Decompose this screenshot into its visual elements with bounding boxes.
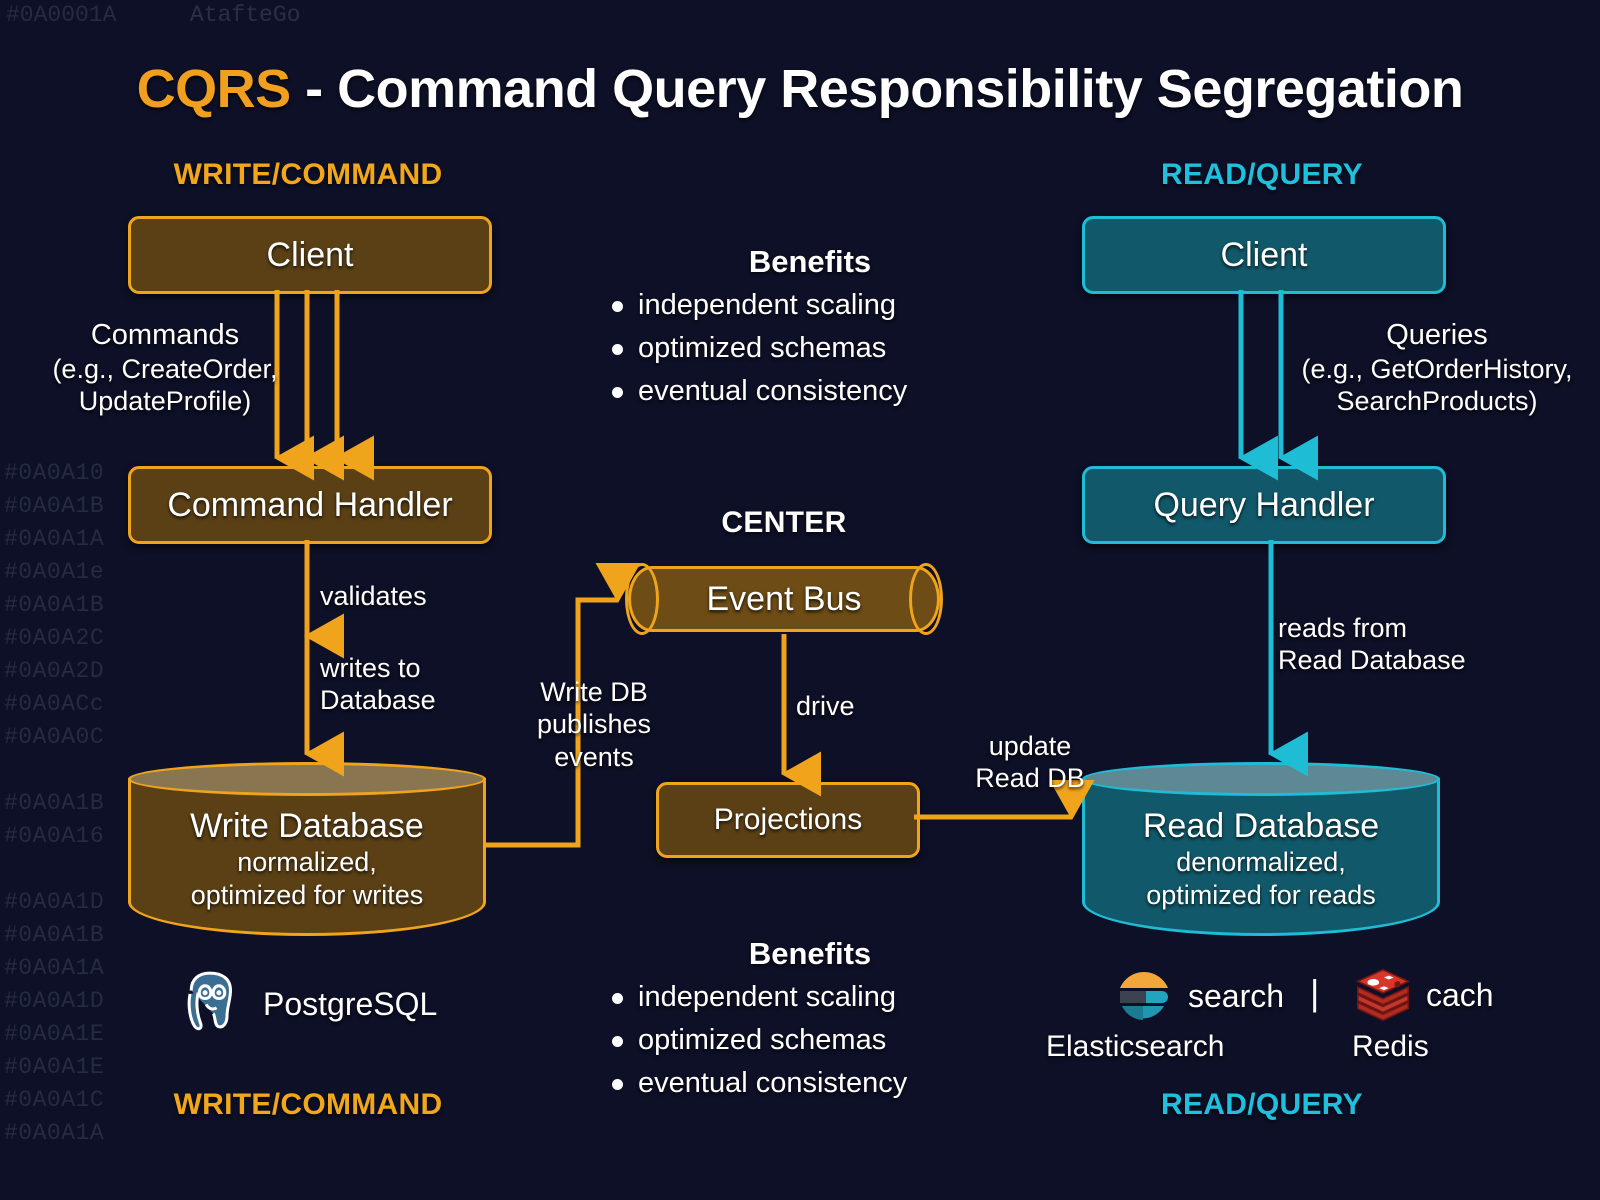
read-db-top [1082, 762, 1440, 796]
elasticsearch-icon [1112, 962, 1176, 1031]
edge-label-queries-examples: Queries (e.g., GetOrderHistory, SearchPr… [1272, 318, 1600, 418]
watermark-hex-line: #0A0A1D [4, 990, 204, 1023]
watermark-hex-line: #0A0A2C [4, 627, 204, 660]
read-db-label: Read Database denormalized, optimized fo… [1082, 806, 1440, 911]
benefits-top: Benefits independent scalingoptimized sc… [600, 244, 1020, 413]
query-handler-node[interactable]: Query Handler [1082, 466, 1446, 544]
watermark-hex-line: #0A0A0C [4, 726, 204, 759]
benefits-top-heading: Benefits [600, 244, 1020, 280]
benefit-item: optimized schemas [638, 327, 1020, 370]
benefits-bottom: Benefits independent scalingoptimized sc… [600, 936, 1020, 1105]
edge-commands-line2: (e.g., CreateOrder, [40, 353, 290, 385]
watermark-hex-line: #0A0A1A [4, 1122, 204, 1155]
title-accent: CQRS [137, 59, 291, 119]
read-database-node[interactable]: Read Database denormalized, optimized fo… [1082, 762, 1440, 936]
watermark-hex-line: #0A0A1B [4, 594, 204, 627]
edge-publishes-line1: Write DB [504, 676, 684, 708]
benefit-item: independent scaling [638, 284, 1020, 327]
edge-update-line1: update [930, 730, 1130, 762]
elasticsearch-name: Elasticsearch [1046, 1030, 1224, 1064]
edge-label-writes-to: writes to Database [320, 652, 530, 717]
benefits-bottom-heading: Benefits [600, 936, 1020, 972]
title-rest: - Command Query Responsibility Segregati… [291, 59, 1464, 119]
postgresql-tech: PostgreSQL [175, 965, 437, 1044]
page-title: CQRS - Command Query Responsibility Segr… [0, 58, 1600, 120]
read-db-title: Read Database [1082, 806, 1440, 846]
write-db-top [128, 762, 486, 796]
elasticsearch-tag: search [1188, 978, 1284, 1015]
edge-label-validates: validates [320, 580, 520, 612]
edge-publishes-line3: events [504, 741, 684, 773]
edge-label-queries: reads from Read Database [1278, 612, 1538, 677]
edge-label-write-db-publishes: Write DB publishes events [504, 676, 684, 773]
diagram-canvas: #0A0001A AtafteGo #0A0A10#0A0A1B#0A0A1A#… [0, 0, 1600, 1200]
benefit-item: eventual consistency [638, 1062, 1020, 1105]
edge-publishes-line2: publishes [504, 708, 684, 740]
read-db-sub2: optimized for reads [1082, 879, 1440, 911]
read-heading-bottom: READ/QUERY [1082, 1088, 1442, 1122]
edge-writes-line2: Database [320, 684, 530, 716]
write-db-title: Write Database [128, 806, 486, 846]
read-db-sub1: denormalized, [1082, 846, 1440, 878]
benefits-top-list: independent scalingoptimized schemaseven… [600, 284, 1020, 413]
watermark-hex-line: #0A0A1E [4, 1056, 204, 1089]
edge-queries-line1: Queries [1272, 318, 1600, 353]
projections-label: Projections [714, 803, 862, 837]
write-db-sub2: optimized for writes [128, 879, 486, 911]
write-client-node[interactable]: Client [128, 216, 492, 294]
watermark-hex-line: #0A0A2D [4, 660, 204, 693]
write-client-label: Client [267, 236, 354, 275]
elasticsearch-tech: search [1112, 962, 1284, 1031]
watermark-hex-line: #0A0A1E [4, 1023, 204, 1056]
watermark-label: AtafteGo [190, 2, 300, 28]
watermark-hex-line: #0A0A1e [4, 561, 204, 594]
edge-label-commands: Commands (e.g., CreateOrder, UpdateProfi… [40, 318, 290, 418]
write-database-node[interactable]: Write Database normalized, optimized for… [128, 762, 486, 936]
command-handler-node[interactable]: Command Handler [128, 466, 492, 544]
edge-reads-line2: Read Database [1278, 644, 1538, 676]
read-heading-top: READ/QUERY [1082, 158, 1442, 192]
projections-node[interactable]: Projections [656, 782, 920, 858]
write-db-sub1: normalized, [128, 846, 486, 878]
redis-tech: cach [1352, 962, 1494, 1029]
redis-name: Redis [1352, 1030, 1429, 1064]
read-client-node[interactable]: Client [1082, 216, 1446, 294]
benefits-bottom-list: independent scalingoptimized schemaseven… [600, 976, 1020, 1105]
edge-reads-line1: reads from [1278, 612, 1538, 644]
watermark-hex-line: #0A0ACc [4, 693, 204, 726]
watermark-hex-top: #0A0001A [6, 2, 116, 28]
postgresql-label: PostgreSQL [263, 986, 437, 1023]
benefit-item: independent scaling [638, 976, 1020, 1019]
edge-label-drive: drive [796, 690, 936, 722]
event-bus-node[interactable]: Event Bus [628, 566, 940, 632]
query-handler-label: Query Handler [1153, 486, 1374, 525]
command-handler-label: Command Handler [167, 486, 452, 525]
watermark-hex-line: #0A0A1A [4, 957, 204, 990]
read-client-label: Client [1221, 236, 1308, 275]
edge-queries-line3: SearchProducts) [1272, 385, 1600, 417]
edge-commands-line3: UpdateProfile) [40, 385, 290, 417]
edge-queries-line2: (e.g., GetOrderHistory, [1272, 353, 1600, 385]
write-heading-bottom: WRITE/COMMAND [128, 1088, 488, 1122]
edge-writes-line1: writes to [320, 652, 530, 684]
write-heading-top: WRITE/COMMAND [128, 158, 488, 192]
write-db-label: Write Database normalized, optimized for… [128, 806, 486, 911]
event-bus-label: Event Bus [628, 566, 940, 632]
postgresql-elephant-icon [175, 965, 249, 1044]
edge-label-update-read-db: update Read DB [930, 730, 1130, 795]
edge-commands-line1: Commands [40, 318, 290, 353]
redis-tag: cach [1426, 977, 1494, 1014]
benefit-item: eventual consistency [638, 370, 1020, 413]
benefit-item: optimized schemas [638, 1019, 1020, 1062]
center-heading: CENTER [604, 506, 964, 540]
tech-separator: | [1310, 972, 1319, 1014]
redis-stack-icon [1352, 962, 1414, 1029]
edge-update-line2: Read DB [930, 762, 1130, 794]
